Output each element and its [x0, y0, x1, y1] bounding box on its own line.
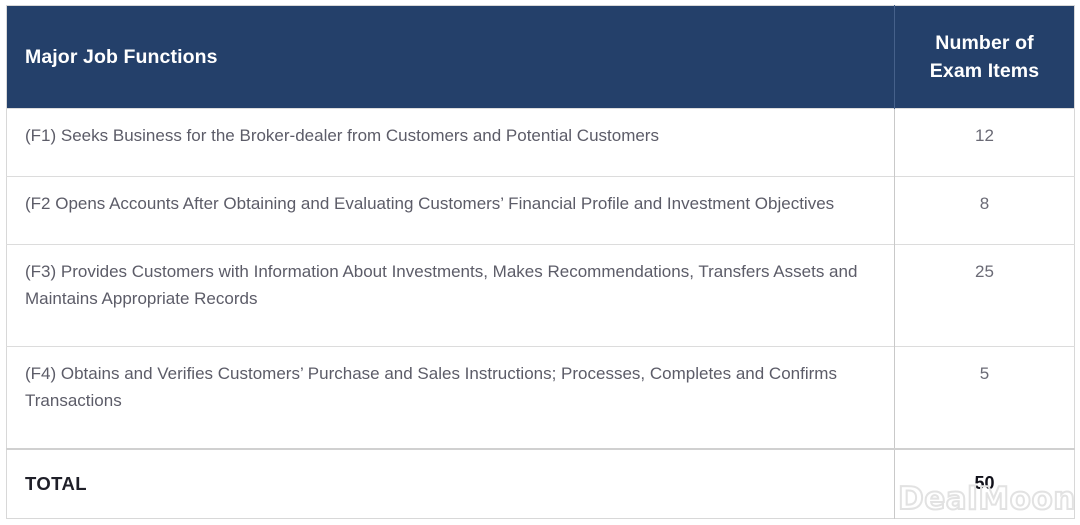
cell-exam-items-count: 12	[895, 109, 1075, 177]
cell-total-label: TOTAL	[7, 449, 895, 519]
cell-job-function: (F4) Obtains and Verifies Customers’ Pur…	[7, 346, 895, 449]
cell-exam-items-count: 25	[895, 244, 1075, 346]
table-row: (F4) Obtains and Verifies Customers’ Pur…	[7, 346, 1075, 449]
cell-exam-items-count: 8	[895, 176, 1075, 244]
table-row: (F1) Seeks Business for the Broker-deale…	[7, 109, 1075, 177]
column-header-line2: Exam Items	[905, 57, 1064, 85]
job-functions-table: Major Job Functions Number ofExam Items …	[6, 5, 1075, 519]
column-header-major-job-functions: Major Job Functions	[7, 6, 895, 109]
column-header-line1: Number of	[935, 32, 1033, 54]
table-header: Major Job Functions Number ofExam Items	[7, 6, 1075, 109]
cell-job-function: (F3) Provides Customers with Information…	[7, 244, 895, 346]
cell-exam-items-count: 5	[895, 346, 1075, 449]
column-header-number-of-exam-items: Number ofExam Items	[895, 6, 1075, 109]
table-page: Major Job Functions Number ofExam Items …	[0, 0, 1080, 525]
table-body: (F1) Seeks Business for the Broker-deale…	[7, 109, 1075, 519]
header-row: Major Job Functions Number ofExam Items	[7, 6, 1075, 109]
table-row: (F2 Opens Accounts After Obtaining and E…	[7, 176, 1075, 244]
table-row: (F3) Provides Customers with Information…	[7, 244, 1075, 346]
cell-job-function: (F2 Opens Accounts After Obtaining and E…	[7, 176, 895, 244]
cell-job-function: (F1) Seeks Business for the Broker-deale…	[7, 109, 895, 177]
table-total-row: TOTAL 50	[7, 449, 1075, 519]
cell-total-count: 50	[895, 449, 1075, 519]
